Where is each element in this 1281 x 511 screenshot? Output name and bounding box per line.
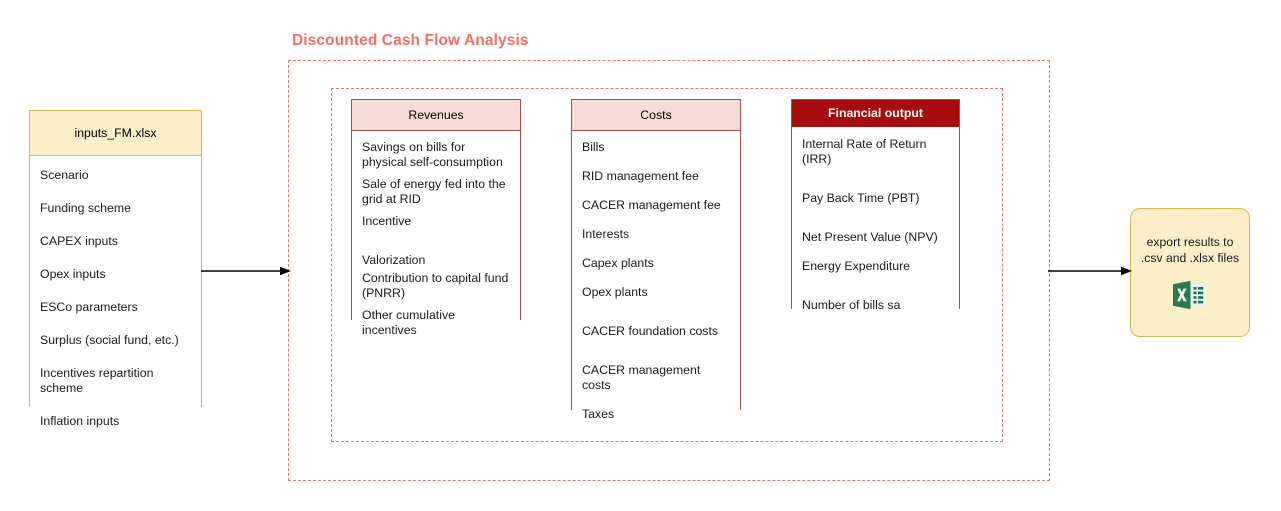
list-item: RID management fee (582, 169, 731, 184)
list-item: Interests (582, 227, 731, 242)
group-title: Discounted Cash Flow Analysis (292, 32, 529, 50)
inputs-file-title: inputs_FM.xlsx (30, 111, 201, 156)
connector-inputs-to-analysis (201, 265, 291, 277)
list-item: Contribution to capital fund (PNRR) (362, 271, 511, 301)
list-item: Savings on bills for physical self-consu… (362, 140, 511, 170)
financial-output-title: Financial output (792, 100, 959, 127)
revenues-list: Savings on bills for physical self-consu… (352, 131, 520, 347)
list-item: Taxes (582, 407, 731, 422)
inputs-file-box[interactable]: inputs_FM.xlsx Scenario Funding scheme C… (29, 110, 202, 407)
list-item: Bills (582, 140, 731, 155)
list-item: Surplus (social fund, etc.) (40, 333, 192, 348)
list-item: Inflation inputs (40, 414, 192, 429)
list-item: Number of bills sa (802, 298, 950, 313)
list-item: Internal Rate of Return (IRR) (802, 137, 950, 167)
revenues-box[interactable]: Revenues Savings on bills for physical s… (351, 99, 521, 320)
list-item: Incentive (362, 214, 511, 229)
costs-box[interactable]: Costs Bills RID management fee CACER man… (571, 99, 741, 410)
costs-list: Bills RID management fee CACER managemen… (572, 131, 740, 431)
export-results-box[interactable]: export results to .csv and .xlsx files (1130, 208, 1250, 337)
list-item: Opex inputs (40, 267, 192, 282)
list-item: Funding scheme (40, 201, 192, 216)
list-item: Capex plants (582, 256, 731, 271)
list-item: Other cumulative incentives (362, 308, 511, 338)
list-item: CACER management costs (582, 363, 731, 393)
list-item: Incentives repartition scheme (40, 366, 192, 396)
revenues-title: Revenues (352, 100, 520, 131)
financial-output-list: Internal Rate of Return (IRR) Pay Back T… (792, 127, 959, 322)
costs-title: Costs (572, 100, 740, 131)
list-item: Pay Back Time (PBT) (802, 191, 950, 206)
list-item: ESCo parameters (40, 300, 192, 315)
export-results-label: export results to .csv and .xlsx files (1139, 235, 1241, 266)
list-item: Energy Expenditure (802, 259, 950, 274)
list-item: CACER foundation costs (582, 324, 731, 339)
list-item: Valorization (362, 253, 511, 268)
financial-output-box[interactable]: Financial output Internal Rate of Return… (791, 99, 960, 309)
connector-analysis-to-export (1048, 265, 1132, 277)
list-item: Scenario (40, 168, 192, 183)
list-item: CAPEX inputs (40, 234, 192, 249)
excel-icon (1173, 280, 1207, 310)
list-item: Opex plants (582, 285, 731, 300)
inputs-file-list: Scenario Funding scheme CAPEX inputs Ope… (30, 156, 201, 438)
list-item: Sale of energy fed into the grid at RID (362, 177, 511, 207)
list-item: CACER management fee (582, 198, 731, 213)
list-item: Net Present Value (NPV) (802, 230, 950, 245)
